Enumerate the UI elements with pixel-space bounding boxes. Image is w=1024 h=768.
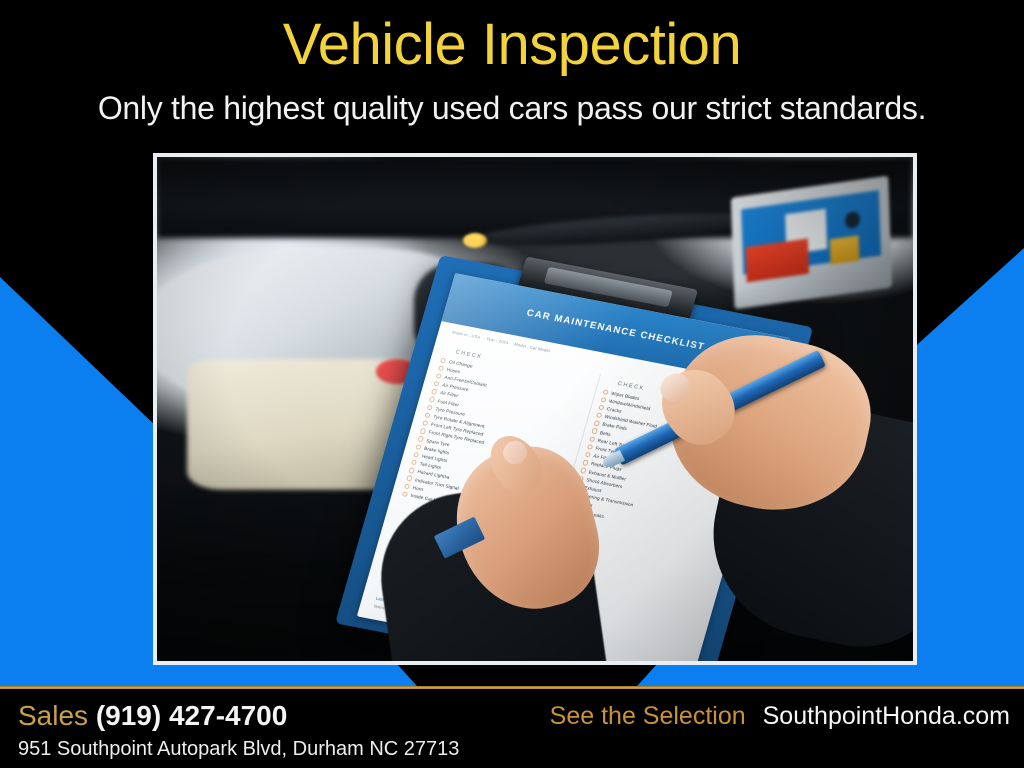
checkbox-circle-icon[interactable]: [591, 428, 598, 434]
website-url[interactable]: SouthpointHonda.com: [763, 702, 1010, 730]
meta-year: Year : 2023: [486, 335, 510, 344]
checkbox-circle-icon[interactable]: [587, 444, 594, 450]
checkbox-circle-icon[interactable]: [411, 459, 418, 465]
checkbox-circle-icon[interactable]: [438, 365, 445, 371]
meta-model: Model : Car Model: [514, 341, 551, 353]
checkbox-circle-icon[interactable]: [422, 420, 429, 426]
dealer-address: 951 Southpoint Autopark Blvd, Durham NC …: [18, 736, 459, 762]
blue-band-notch: [396, 663, 658, 686]
checkbox-circle-icon[interactable]: [596, 412, 603, 418]
see-the-selection-label: See the Selection: [550, 702, 746, 730]
blue-corner-shape-right: [909, 248, 1024, 690]
checkbox-circle-icon[interactable]: [580, 467, 587, 473]
sales-contact: Sales (919) 427-4700: [18, 699, 287, 733]
checkbox-circle-icon[interactable]: [600, 396, 607, 402]
checkbox-circle-icon[interactable]: [440, 357, 447, 363]
website-callout: See the Selection SouthpointHonda.com: [550, 700, 1010, 732]
checkbox-circle-icon[interactable]: [429, 396, 436, 402]
footer: Sales (919) 427-4700 951 Southpoint Auto…: [0, 689, 1024, 768]
blue-corner-shape-left: [0, 270, 158, 690]
checkbox-circle-icon[interactable]: [589, 436, 596, 442]
page-title: Vehicle Inspection: [0, 12, 1024, 78]
checkbox-circle-icon[interactable]: [427, 404, 434, 410]
sales-label: Sales: [18, 700, 88, 731]
inspection-photo: Car Maintenance Checklist Made in : USA …: [157, 157, 913, 661]
checkbox-circle-icon[interactable]: [404, 483, 411, 489]
checkbox-circle-icon[interactable]: [415, 444, 422, 450]
checkbox-circle-icon[interactable]: [406, 475, 413, 481]
checklist-item-label: Belts: [600, 430, 612, 437]
checkbox-circle-icon[interactable]: [425, 412, 432, 418]
checkbox-circle-icon[interactable]: [594, 420, 601, 426]
checkbox-circle-icon[interactable]: [418, 436, 425, 442]
checkbox-circle-icon[interactable]: [402, 491, 409, 497]
checkbox-circle-icon[interactable]: [598, 404, 605, 410]
meta-made-in: Made in : USA: [452, 329, 481, 339]
checkbox-circle-icon[interactable]: [603, 389, 610, 395]
checkbox-circle-icon[interactable]: [431, 389, 438, 395]
page-subtitle: Only the highest quality used cars pass …: [0, 88, 1024, 128]
sales-phone[interactable]: (919) 427-4700: [96, 700, 287, 731]
checklist-item-label: Horn: [413, 485, 425, 492]
photo-frame: Car Maintenance Checklist Made in : USA …: [153, 153, 917, 665]
checkbox-circle-icon[interactable]: [409, 467, 416, 473]
ad-canvas: Vehicle Inspection Only the highest qual…: [0, 0, 1024, 768]
checkbox-circle-icon[interactable]: [436, 373, 443, 379]
checkbox-circle-icon[interactable]: [420, 428, 427, 434]
checkbox-circle-icon[interactable]: [413, 452, 420, 458]
checkbox-circle-icon[interactable]: [585, 452, 592, 458]
checkbox-circle-icon[interactable]: [582, 459, 589, 465]
checkbox-circle-icon[interactable]: [434, 381, 441, 387]
